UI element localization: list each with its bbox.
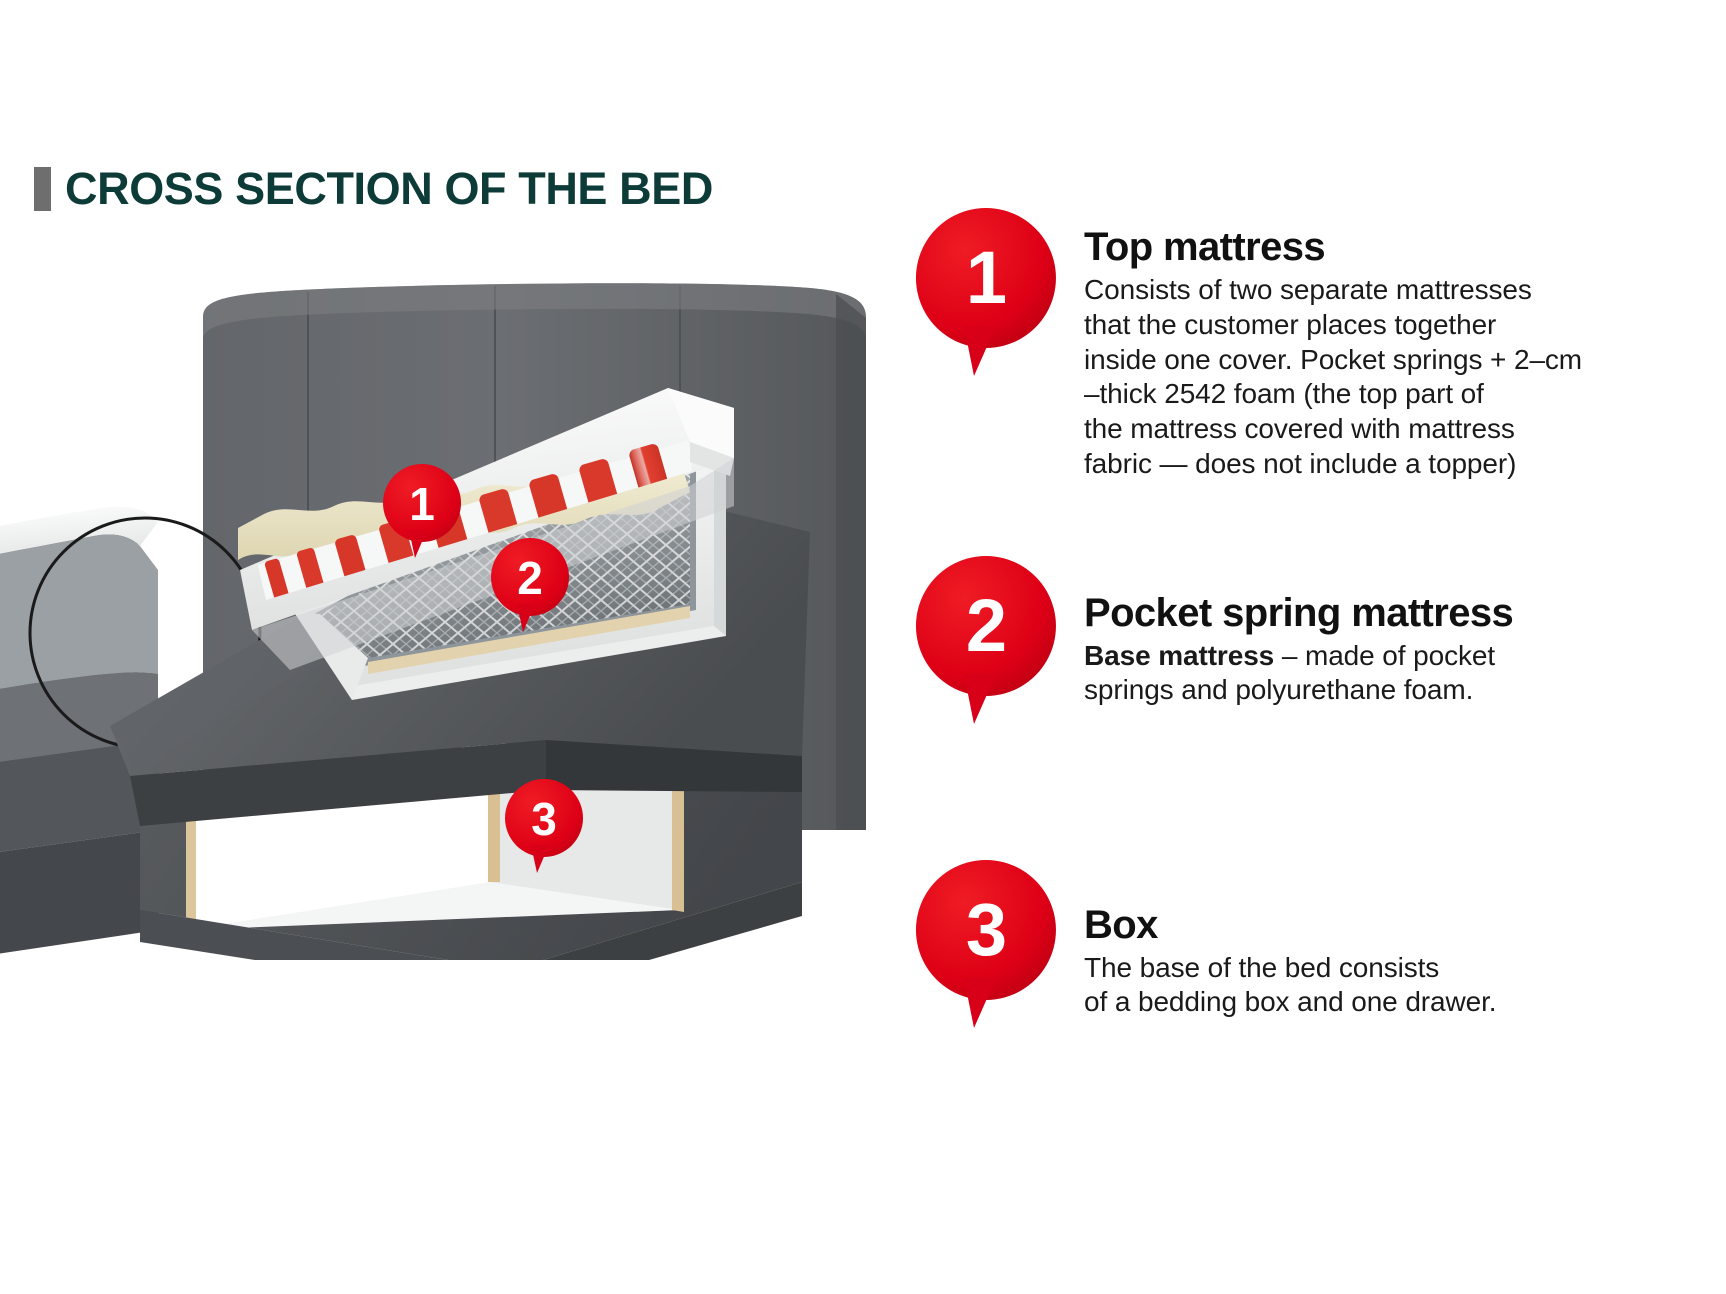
legend-title-1: Top mattress [1084, 226, 1582, 269]
illustration-marker-2: 2 [489, 538, 571, 636]
title-accent-bar [34, 167, 51, 211]
legend-title-2: Pocket spring mattress [1084, 592, 1513, 635]
illustration-marker-1: 1 [381, 464, 463, 562]
page-title: CROSS SECTION OF THE BED [34, 166, 713, 211]
legend-title-3: Box [1084, 904, 1496, 947]
svg-text:3: 3 [531, 793, 557, 845]
legend-list: 1 Top mattress Consists of two separate … [912, 200, 1712, 1036]
marker-pin-1: 1 [912, 208, 1060, 384]
legend-item-top-mattress: 1 Top mattress Consists of two separate … [912, 208, 1712, 482]
marker-pin-1-number: 1 [912, 208, 1060, 348]
infographic-page: CROSS SECTION OF THE BED [0, 0, 1726, 1294]
svg-text:2: 2 [517, 552, 543, 604]
marker-pin-3: 3 [912, 860, 1060, 1036]
legend-item-box: 3 Box The base of the bed consists of a … [912, 860, 1712, 1036]
legend-body-2-lead: Base mattress [1084, 640, 1274, 671]
page-title-text: CROSS SECTION OF THE BED [65, 166, 713, 211]
marker-pin-2: 2 [912, 556, 1060, 732]
legend-body-2: Base mattress – made of pocket springs a… [1084, 639, 1513, 708]
marker-pin-3-number: 3 [912, 860, 1060, 1000]
legend-body-3: The base of the bed consists of a beddin… [1084, 951, 1496, 1020]
illustration-marker-3: 3 [503, 779, 585, 877]
legend-body-1: Consists of two separate mattresses that… [1084, 273, 1582, 481]
svg-text:1: 1 [409, 478, 435, 530]
legend-item-pocket-spring-mattress: 2 Pocket spring mattress Base mattress –… [912, 556, 1712, 732]
marker-pin-2-number: 2 [912, 556, 1060, 696]
bed-cross-section-illustration [0, 270, 930, 960]
